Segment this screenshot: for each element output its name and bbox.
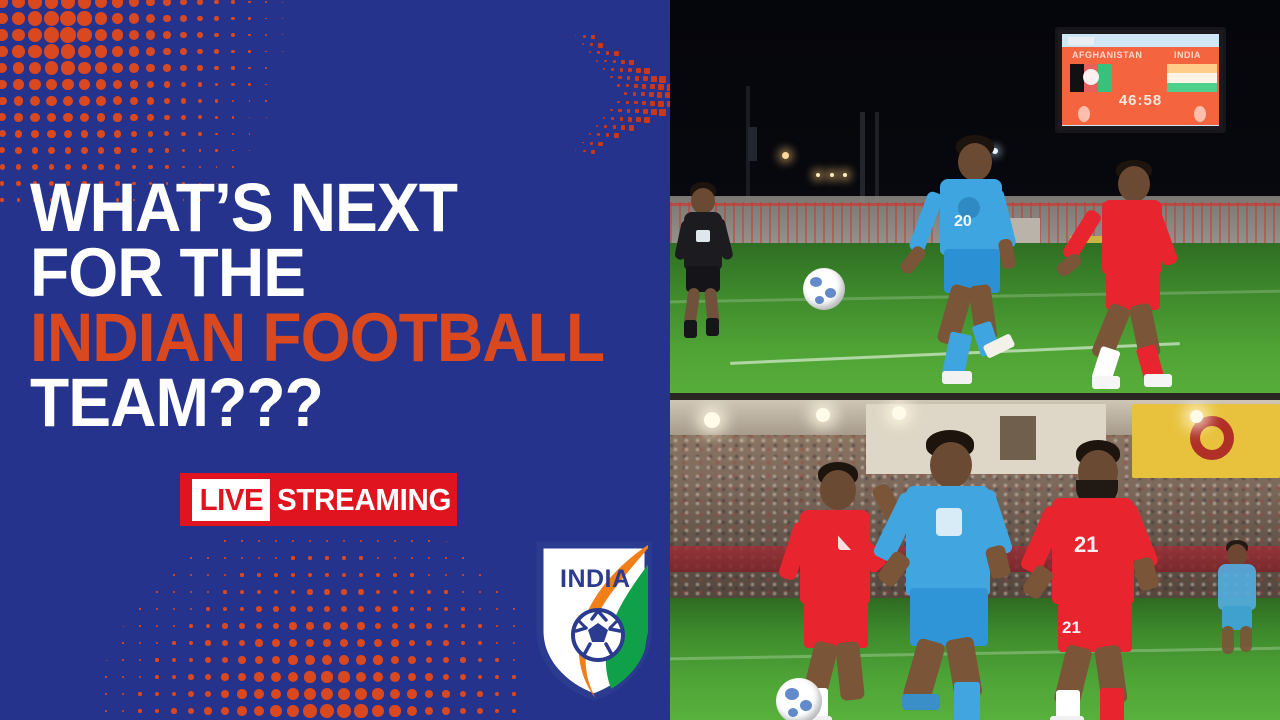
photo-divider xyxy=(670,393,1280,400)
aiff-crest-icon: INDIA xyxy=(530,535,658,705)
scoreboard: AFGHANISTAN INDIA 46:58 xyxy=(1055,27,1226,133)
headline-line-4: TEAM??? xyxy=(30,370,625,435)
flag-india xyxy=(1167,64,1217,92)
soccer-ball xyxy=(776,678,822,720)
scoreboard-team-left: AFGHANISTAN xyxy=(1072,50,1142,60)
floodlight xyxy=(892,406,906,420)
halftone-dots-bottom xyxy=(0,520,520,720)
stadium-light xyxy=(816,173,820,177)
stadium-light xyxy=(843,173,847,177)
page-title: WHAT’S NEXT FOR THE INDIAN FOOTBALL TEAM… xyxy=(30,175,670,435)
floodlight xyxy=(816,408,830,422)
match-photo-top: AFGHANISTAN INDIA 46:58 xyxy=(670,0,1280,393)
photo-collage: AFGHANISTAN INDIA 46:58 xyxy=(670,0,1280,720)
live-label: LIVE xyxy=(192,479,270,521)
player-india-background xyxy=(1210,540,1270,660)
jersey-crest xyxy=(936,508,962,536)
stadium-light xyxy=(782,152,789,159)
player-afghanistan-red xyxy=(1090,160,1190,390)
match-photo-bottom: 6 xyxy=(670,400,1280,720)
left-content-panel: WHAT’S NEXT FOR THE INDIAN FOOTBALL TEAM… xyxy=(0,0,670,720)
flag-afghanistan xyxy=(1070,64,1112,92)
player-india-blue: 20 xyxy=(928,135,1028,385)
light-pole xyxy=(860,112,865,208)
headline-line-2: FOR THE xyxy=(30,240,625,305)
player-afghanistan-21: 21 21 xyxy=(1042,440,1172,720)
streaming-label: STREAMING xyxy=(277,484,451,515)
live-streaming-badge[interactable]: LIVE STREAMING xyxy=(180,473,457,526)
headline-line-3: INDIAN FOOTBALL xyxy=(30,305,625,370)
light-pole xyxy=(875,112,879,208)
floodlight xyxy=(1190,410,1203,423)
player-afghanistan-6: 6 xyxy=(792,462,902,712)
logo-india-text: INDIA xyxy=(560,565,631,593)
stadium-light xyxy=(830,173,834,177)
headline-line-1: WHAT’S NEXT xyxy=(30,175,625,240)
soccer-ball-icon xyxy=(573,610,623,660)
referee xyxy=(678,182,738,332)
aiff-india-logo: INDIA xyxy=(530,535,658,705)
chevron-right-icon xyxy=(575,35,670,155)
scoreboard-team-right: INDIA xyxy=(1174,50,1201,60)
floodlight xyxy=(704,412,720,428)
player-india-blue-center xyxy=(892,430,1022,720)
poster-canvas: WHAT’S NEXT FOR THE INDIAN FOOTBALL TEAM… xyxy=(0,0,1280,720)
soccer-ball xyxy=(803,268,845,310)
scoreboard-mast xyxy=(748,127,757,161)
scoreboard-screen: AFGHANISTAN INDIA 46:58 xyxy=(1062,34,1219,126)
banner-emblem-inner xyxy=(1200,426,1224,450)
